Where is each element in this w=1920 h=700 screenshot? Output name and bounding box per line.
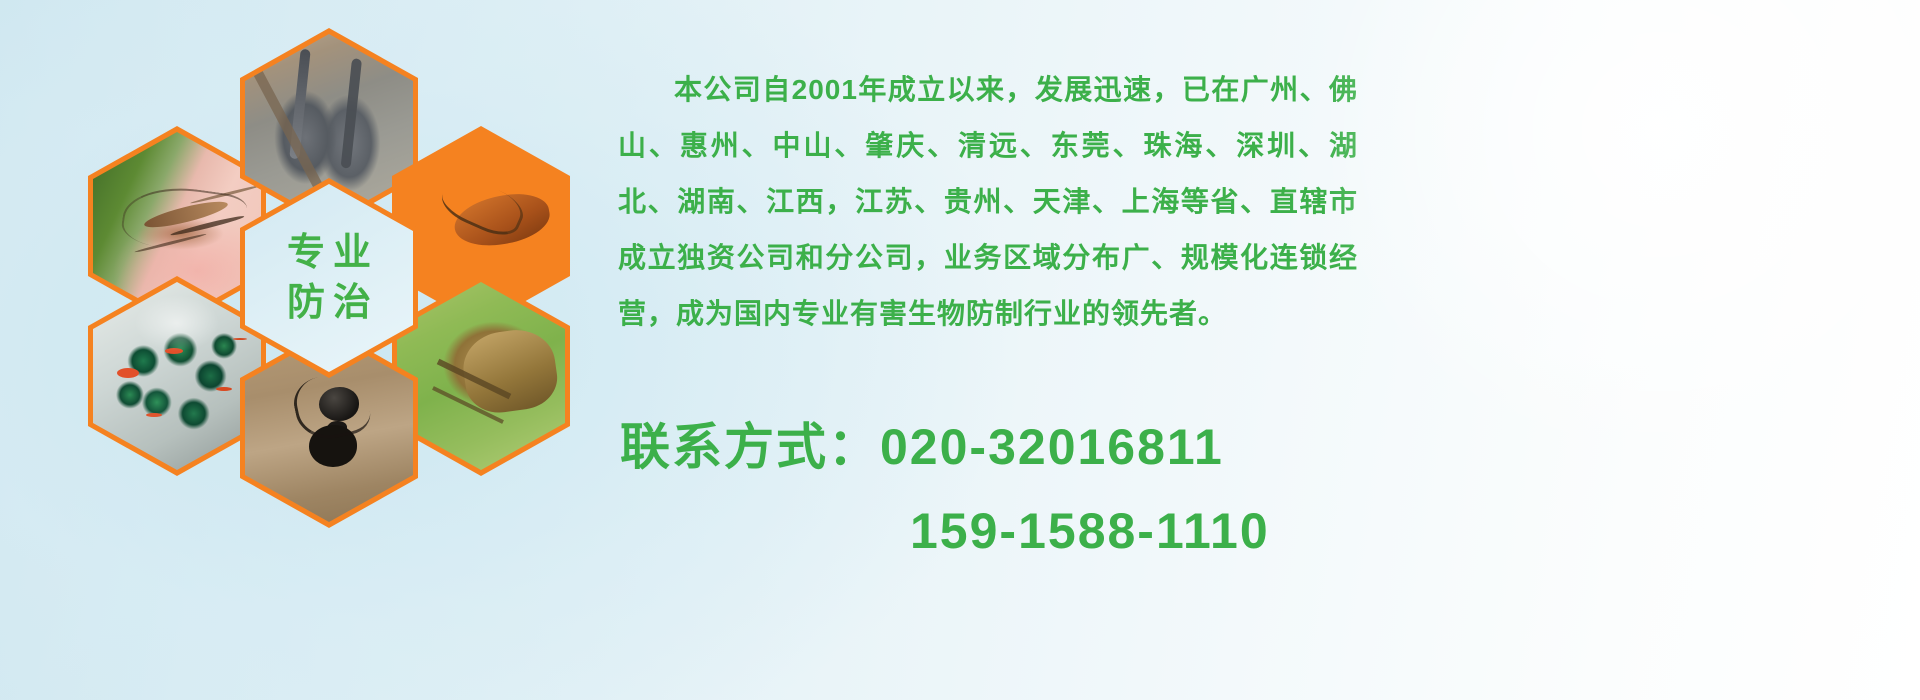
flies-photo [93,282,261,470]
hex-tile-flies[interactable] [88,276,266,476]
slogan-label: 专业 防治 [245,184,413,372]
contact-landline-line[interactable]: 联系方式：020-32016811 [620,405,1380,489]
company-intro-paragraph: 本公司自2001年成立以来，发展迅速，已在广州、佛山、惠州、中山、肇庆、清远、东… [618,62,1358,342]
stinkbug-photo [397,282,565,470]
contact-mobile-line[interactable]: 159-1588-1110 [620,489,1380,573]
slogan-line-1: 专业 [279,234,379,272]
contact-block: 联系方式：020-32016811 159-1588-1110 [620,405,1380,573]
hex-inner-stinkbug [397,282,565,470]
hexagon-image-cluster: 专业 防治 [88,14,588,574]
hex-inner-center: 专业 防治 [245,184,413,372]
hex-tile-stinkbug[interactable] [392,276,570,476]
hex-tile-center-slogan: 专业 防治 [240,178,418,378]
hex-inner-flies [93,282,261,470]
pest-control-banner: 专业 防治 本公司自2001年成立以来，发展迅速，已在广州、佛山、惠州、中山、肇… [0,0,1920,700]
slogan-line-2: 防治 [279,284,379,322]
